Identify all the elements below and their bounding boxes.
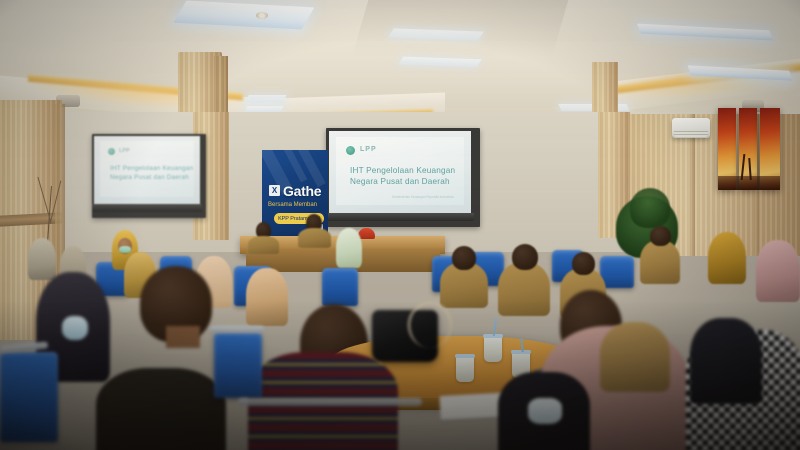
warm-tone-overlay bbox=[0, 0, 800, 450]
seminar-photo-scene: LPP IHT Pengelolaan Keuangan Negara Pusa… bbox=[0, 0, 800, 450]
